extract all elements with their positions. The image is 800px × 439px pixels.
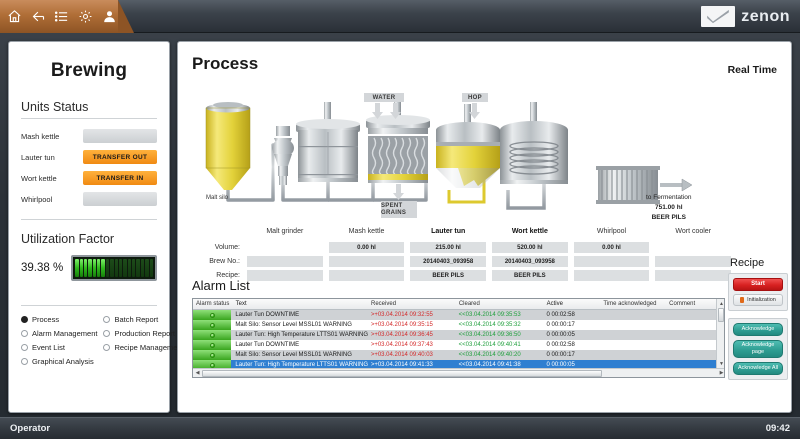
bargraph-segment	[106, 259, 109, 277]
page-title: Brewing	[21, 60, 157, 82]
bargraph-segment	[97, 259, 100, 277]
sidebar-item-recipe-management[interactable]: Recipe Management	[103, 343, 183, 352]
alarm-received: >+03.04.2014 09:35:15	[371, 322, 459, 328]
status-badge: TRANSFER IN	[83, 171, 157, 185]
status-led-icon	[210, 353, 215, 358]
col-header-malt-grinder: Malt grinder	[247, 228, 323, 239]
malt-silo-label: Malt silo	[206, 195, 228, 201]
col-header-whirlpool: Whirlpool	[574, 228, 650, 239]
unit-row: Wort kettle TRANSFER IN	[21, 171, 157, 185]
alarm-active: 0 00:02:58	[546, 312, 603, 318]
utilization-value: 39.38 %	[21, 262, 63, 274]
water-down-arrow-icon	[372, 103, 383, 119]
status-user: Operator	[10, 423, 50, 434]
nav-label: Alarm Management	[32, 329, 97, 338]
alarm-cleared: <<03.04.2014 09:36:50	[459, 332, 547, 338]
sidebar-item-batch-report[interactable]: Batch Report	[103, 315, 183, 324]
unit-row: Whirlpool	[21, 192, 157, 206]
sidebar-item-graphical-analysis[interactable]: Graphical Analysis	[21, 357, 97, 366]
process-diagram: Malt silo WATER HOP SPENT GRAINS to Ferm…	[178, 90, 793, 222]
divider	[21, 118, 157, 119]
nav-label: Event List	[32, 343, 65, 352]
status-led-icon	[210, 313, 215, 318]
radio-icon	[21, 330, 28, 337]
scroll-right-icon[interactable]: ▶	[717, 369, 725, 378]
status-badge	[83, 129, 157, 143]
acknowledge-panel: Acknowledge Acknowledge page Acknowledge…	[728, 318, 788, 380]
values-table: Malt grinder Mash kettle Lauter tun Wort…	[194, 228, 734, 284]
table-row[interactable]: Lauter Tun DOWNTIME>+03.04.2014 09:32:55…	[193, 310, 724, 320]
unit-label: Whirlpool	[21, 195, 83, 204]
initialization-icon	[740, 297, 744, 303]
to-fermentation-recipe: BEER PILS	[646, 213, 692, 223]
col-header-active: Active	[547, 301, 604, 307]
checkmark-icon	[701, 6, 735, 27]
col-header-mash-kettle: Mash kettle	[329, 228, 405, 239]
col-header-time-acknowledged: Time acknowledged	[603, 301, 669, 307]
cell-recipe-wort-kettle: BEER PILS	[492, 270, 568, 281]
alarm-cleared: <<03.04.2014 09:40:20	[459, 352, 547, 358]
alarm-text: Lauter Tun: High Temperature LTTS01 WARN…	[231, 332, 370, 338]
hop-down-arrow-icon	[469, 103, 480, 119]
malt-silo	[206, 102, 250, 190]
alarm-status-indicator	[193, 340, 231, 350]
alarm-active: 0 00:00:05	[546, 332, 603, 338]
cell-volume-whirlpool: 0.00 hl	[574, 242, 650, 253]
cell-recipe-lauter-tun: BEER PILS	[410, 270, 486, 281]
alarm-list-title: Alarm List	[192, 278, 250, 293]
wort-kettle	[436, 104, 500, 188]
alarm-status-indicator	[193, 350, 231, 360]
radio-icon	[103, 344, 110, 351]
bargraph-segment	[132, 259, 135, 277]
sidebar-item-production-report[interactable]: Production Report	[103, 329, 183, 338]
spent-grains-down-arrow-icon	[393, 184, 404, 200]
logo-text: zenon	[741, 8, 790, 26]
hop-label: HOP	[462, 93, 488, 102]
user-icon[interactable]	[100, 7, 118, 27]
recipe-title: Recipe	[730, 257, 764, 269]
nav-label: Production Report	[114, 329, 174, 338]
unit-label: Lauter tun	[21, 153, 83, 162]
utilization-gauge: 39.38 %	[21, 255, 157, 281]
alarm-cleared: <<03.04.2014 09:35:53	[459, 312, 547, 318]
nav-column-left: Process Alarm Management Event List Grap…	[21, 315, 97, 371]
alarm-vertical-scrollbar[interactable]: ▲ ▼	[716, 299, 724, 368]
spacer	[194, 228, 244, 239]
col-header-lauter-tun: Lauter tun	[410, 228, 486, 239]
toolbar-icon-group	[0, 0, 118, 33]
to-fermentation-block: to Fermentation 751.00 hl BEER PILS	[646, 193, 692, 223]
nav-label: Process	[32, 315, 59, 324]
navigation-menu: Process Alarm Management Event List Grap…	[21, 315, 157, 371]
col-header-wort-cooler: Wort cooler	[655, 228, 731, 239]
bargraph-segment	[141, 259, 144, 277]
spent-grains-label: SPENT GRAINS	[381, 201, 417, 218]
status-led-icon	[210, 343, 215, 348]
bargraph-segment	[115, 259, 118, 277]
left-panel: Brewing Units Status Mash kettle Lauter …	[8, 41, 170, 413]
bargraph-segment	[119, 259, 122, 277]
initialization-button[interactable]: Initialization	[733, 294, 783, 307]
alarm-active: 0 00:02:58	[546, 342, 603, 348]
initialization-label: Initialization	[747, 297, 776, 303]
status-led-icon	[210, 363, 215, 368]
radio-icon	[103, 316, 110, 323]
cell-recipe-mash-kettle	[329, 270, 405, 281]
water-label: WATER	[364, 93, 404, 102]
cell-brewno-malt-grinder	[247, 256, 323, 267]
radio-icon	[103, 330, 110, 337]
main-title: Process	[192, 54, 258, 74]
utilization-bargraph	[71, 255, 157, 281]
bargraph-segment	[110, 259, 113, 277]
status-badge: TRANSFER OUT	[83, 150, 157, 164]
cell-volume-wort-kettle: 520.00 hl	[492, 242, 568, 253]
table-row[interactable]: Lauter Tun: High Temperature LTTS01 WARN…	[193, 330, 724, 340]
alarm-rows-container: Lauter Tun DOWNTIME>+03.04.2014 09:32:55…	[193, 310, 724, 370]
status-badge	[83, 192, 157, 206]
water-down-arrow-icon-2	[390, 103, 401, 119]
cell-recipe-whirlpool	[574, 270, 650, 281]
scroll-left-icon[interactable]: ◀	[193, 369, 202, 378]
top-toolbar: zenon	[0, 0, 800, 33]
malt-grinder	[272, 126, 294, 185]
row-label-brewno: Brew No.:	[194, 256, 244, 267]
acknowledge-button[interactable]: Acknowledge	[733, 323, 783, 336]
alarm-text: Malt Silo: Sensor Level MSSL01 WARNING	[231, 352, 370, 358]
col-header-wort-kettle: Wort kettle	[492, 228, 568, 239]
status-led-icon	[210, 333, 215, 338]
bargraph-segment	[80, 259, 83, 277]
scroll-thumb-h[interactable]	[202, 370, 602, 377]
cell-volume-lauter-tun: 215.00 hl	[410, 242, 486, 253]
alarm-received: >+03.04.2014 09:36:45	[371, 332, 459, 338]
units-status-heading: Units Status	[21, 100, 157, 114]
alarm-received: >+03.04.2014 09:40:03	[371, 352, 459, 358]
cell-recipe-wort-cooler	[655, 270, 731, 281]
to-fermentation-volume: 751.00 hl	[646, 203, 692, 213]
sidebar-item-event-list[interactable]: Event List	[21, 343, 97, 352]
unit-label: Mash kettle	[21, 132, 83, 141]
row-label-volume: Volume:	[194, 242, 244, 253]
bargraph-segment	[136, 259, 139, 277]
list-icon[interactable]	[53, 7, 71, 27]
cell-brewno-wort-kettle: 20140403_093958	[492, 256, 568, 267]
alarm-list-header: Alarm status Text Received Cleared Activ…	[193, 299, 724, 310]
radio-icon	[21, 344, 28, 351]
alarm-horizontal-scrollbar[interactable]: ◀ ▶	[193, 368, 725, 377]
home-icon[interactable]	[6, 7, 24, 27]
divider	[21, 219, 157, 220]
sidebar-item-process[interactable]: Process	[21, 315, 97, 324]
values-row-volume: Volume: 0.00 hl 215.00 hl 520.00 hl 0.00…	[194, 242, 734, 253]
col-header-alarm-status: Alarm status	[193, 301, 232, 307]
nav-label: Recipe Management	[114, 343, 183, 352]
alarm-text: Malt Silo: Sensor Level MSSL01 WARNING	[231, 322, 370, 328]
scroll-down-icon[interactable]: ▼	[717, 359, 725, 368]
table-row[interactable]: Lauter Tun DOWNTIME>+03.04.2014 09:37:43…	[193, 340, 724, 350]
scroll-thumb[interactable]	[718, 308, 724, 322]
zenon-logo: zenon	[701, 4, 790, 29]
cell-brewno-lauter-tun: 20140403_093958	[410, 256, 486, 267]
alarm-text: Lauter Tun DOWNTIME	[231, 312, 370, 318]
back-arrow-icon[interactable]	[30, 7, 48, 27]
nav-label: Graphical Analysis	[32, 357, 94, 366]
cell-brewno-mash-kettle	[329, 256, 405, 267]
application-window: zenon Brewing Units Status Mash kettle L…	[0, 0, 800, 439]
divider	[21, 305, 157, 306]
alarm-received: >+03.04.2014 09:37:43	[371, 342, 459, 348]
values-table-header: Malt grinder Mash kettle Lauter tun Wort…	[194, 228, 734, 239]
bargraph-segment	[88, 259, 91, 277]
alarm-cleared: <<03.04.2014 09:40:41	[459, 342, 547, 348]
bargraph-segment	[145, 259, 148, 277]
process-diagram-svg	[178, 90, 793, 222]
alarm-cleared: <<03.04.2014 09:35:32	[459, 322, 547, 328]
realtime-label: Real Time	[728, 64, 777, 76]
col-header-received: Received	[371, 301, 459, 307]
recipe-panel: Start Initialization	[728, 273, 788, 311]
gear-icon[interactable]	[77, 7, 95, 27]
nav-column-right: Batch Report Production Report Recipe Ma…	[103, 315, 183, 371]
radio-icon	[21, 358, 28, 365]
cell-volume-mash-kettle: 0.00 hl	[329, 242, 405, 253]
outlet-arrow	[660, 179, 692, 191]
alarm-status-indicator	[193, 310, 231, 320]
table-row[interactable]: Malt Silo: Sensor Level MSSL01 WARNING>+…	[193, 320, 724, 330]
cell-recipe-malt-grinder	[247, 270, 323, 281]
main-panel: Process Real Time	[177, 41, 792, 413]
unit-row: Mash kettle	[21, 129, 157, 143]
acknowledge-all-button[interactable]: Acknowledge All	[733, 362, 783, 375]
start-button[interactable]: Start	[733, 278, 783, 291]
col-header-cleared: Cleared	[459, 301, 547, 307]
acknowledge-page-button[interactable]: Acknowledge page	[733, 340, 783, 359]
scroll-up-icon[interactable]: ▲	[717, 299, 725, 308]
alarm-text: Lauter Tun DOWNTIME	[231, 342, 370, 348]
bargraph-segment	[150, 259, 153, 277]
col-header-text: Text	[232, 301, 371, 307]
alarm-active: 0 00:00:17	[546, 322, 603, 328]
alarm-status-indicator	[193, 320, 231, 330]
bargraph-segment	[84, 259, 87, 277]
bargraph-segment	[101, 259, 104, 277]
radio-icon	[21, 316, 28, 323]
alarm-active: 0 00:00:17	[546, 352, 603, 358]
nav-label: Batch Report	[114, 315, 158, 324]
bargraph-segment	[123, 259, 126, 277]
cell-brewno-whirlpool	[574, 256, 650, 267]
cell-brewno-wort-cooler	[655, 256, 731, 267]
units-status-list: Mash kettle Lauter tun TRANSFER OUT Wort…	[21, 129, 157, 206]
utilization-heading: Utilization Factor	[21, 232, 157, 246]
alarm-received: >+03.04.2014 09:32:55	[371, 312, 459, 318]
alarm-list[interactable]: Alarm status Text Received Cleared Activ…	[192, 298, 725, 378]
sidebar-item-alarm-management[interactable]: Alarm Management	[21, 329, 97, 338]
table-row[interactable]: Malt Silo: Sensor Level MSSL01 WARNING>+…	[193, 350, 724, 360]
bargraph-segment	[93, 259, 96, 277]
bargraph-segment	[128, 259, 131, 277]
bargraph-segment	[75, 259, 78, 277]
status-bar: Operator 09:42	[0, 417, 800, 439]
alarm-status-indicator	[193, 330, 231, 340]
unit-label: Wort kettle	[21, 174, 83, 183]
status-time: 09:42	[766, 423, 790, 434]
mash-kettle	[296, 102, 360, 182]
unit-row: Lauter tun TRANSFER OUT	[21, 150, 157, 164]
status-led-icon	[210, 323, 215, 328]
values-row-recipe: Recipe: BEER PILS BEER PILS	[194, 270, 734, 281]
whirlpool	[500, 102, 568, 184]
to-fermentation-label: to Fermentation	[646, 193, 692, 203]
values-row-brewno: Brew No.: 20140403_093958 20140403_09395…	[194, 256, 734, 267]
